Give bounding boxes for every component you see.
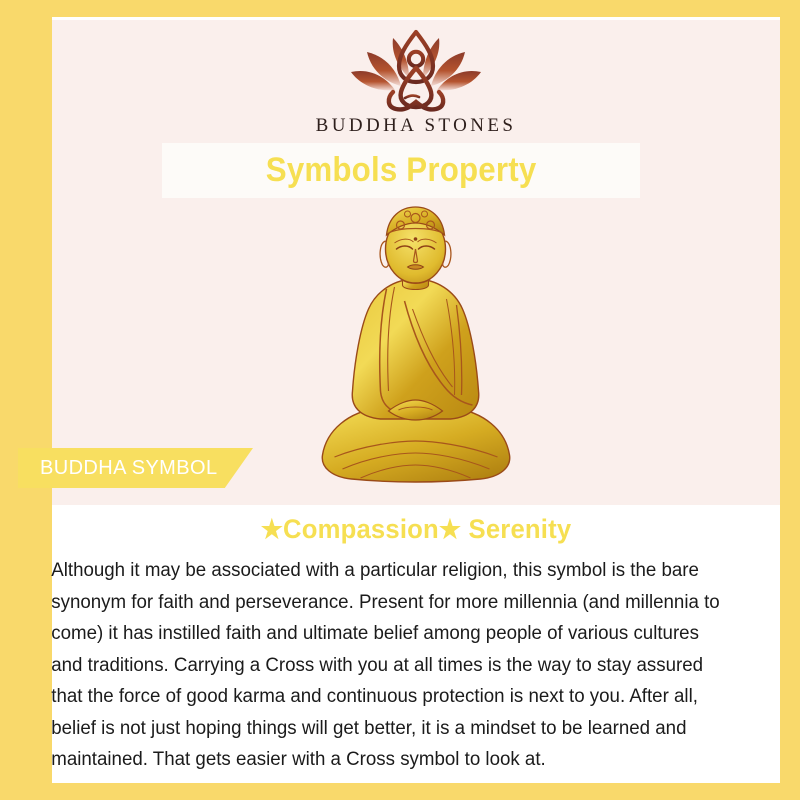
star-icon-right: ★ [439, 514, 461, 544]
ribbon-label: BUDDHA SYMBOL [18, 457, 217, 480]
hero-panel: BUDDHA STONES Symbols Property [52, 20, 780, 505]
frame-band-bottom [0, 782, 800, 800]
buddha-symbol-ribbon: BUDDHA SYMBOL [18, 448, 253, 488]
title-banner: Symbols Property [162, 143, 640, 198]
description-section: ★Compassion★ Serenity Although it may be… [52, 505, 780, 783]
section-subheading: ★Compassion★ Serenity [70, 514, 762, 545]
subheading-word-compassion: Compassion [283, 514, 439, 544]
description-body: Although it may be associated with a par… [27, 555, 745, 776]
star-icon-left: ★ [261, 514, 283, 544]
golden-seated-buddha-statue [309, 205, 524, 495]
lotus-meditation-icon [341, 28, 491, 114]
frame-band-top [0, 0, 800, 17]
brand-wordmark: BUDDHA STONES [316, 115, 517, 137]
page-title: Symbols Property [266, 151, 537, 190]
brand-block: BUDDHA STONES [52, 20, 780, 142]
poster-page: BUDDHA STONES Symbols Property [0, 0, 800, 800]
subheading-word-serenity: Serenity [469, 514, 572, 544]
frame-band-right [780, 0, 800, 800]
